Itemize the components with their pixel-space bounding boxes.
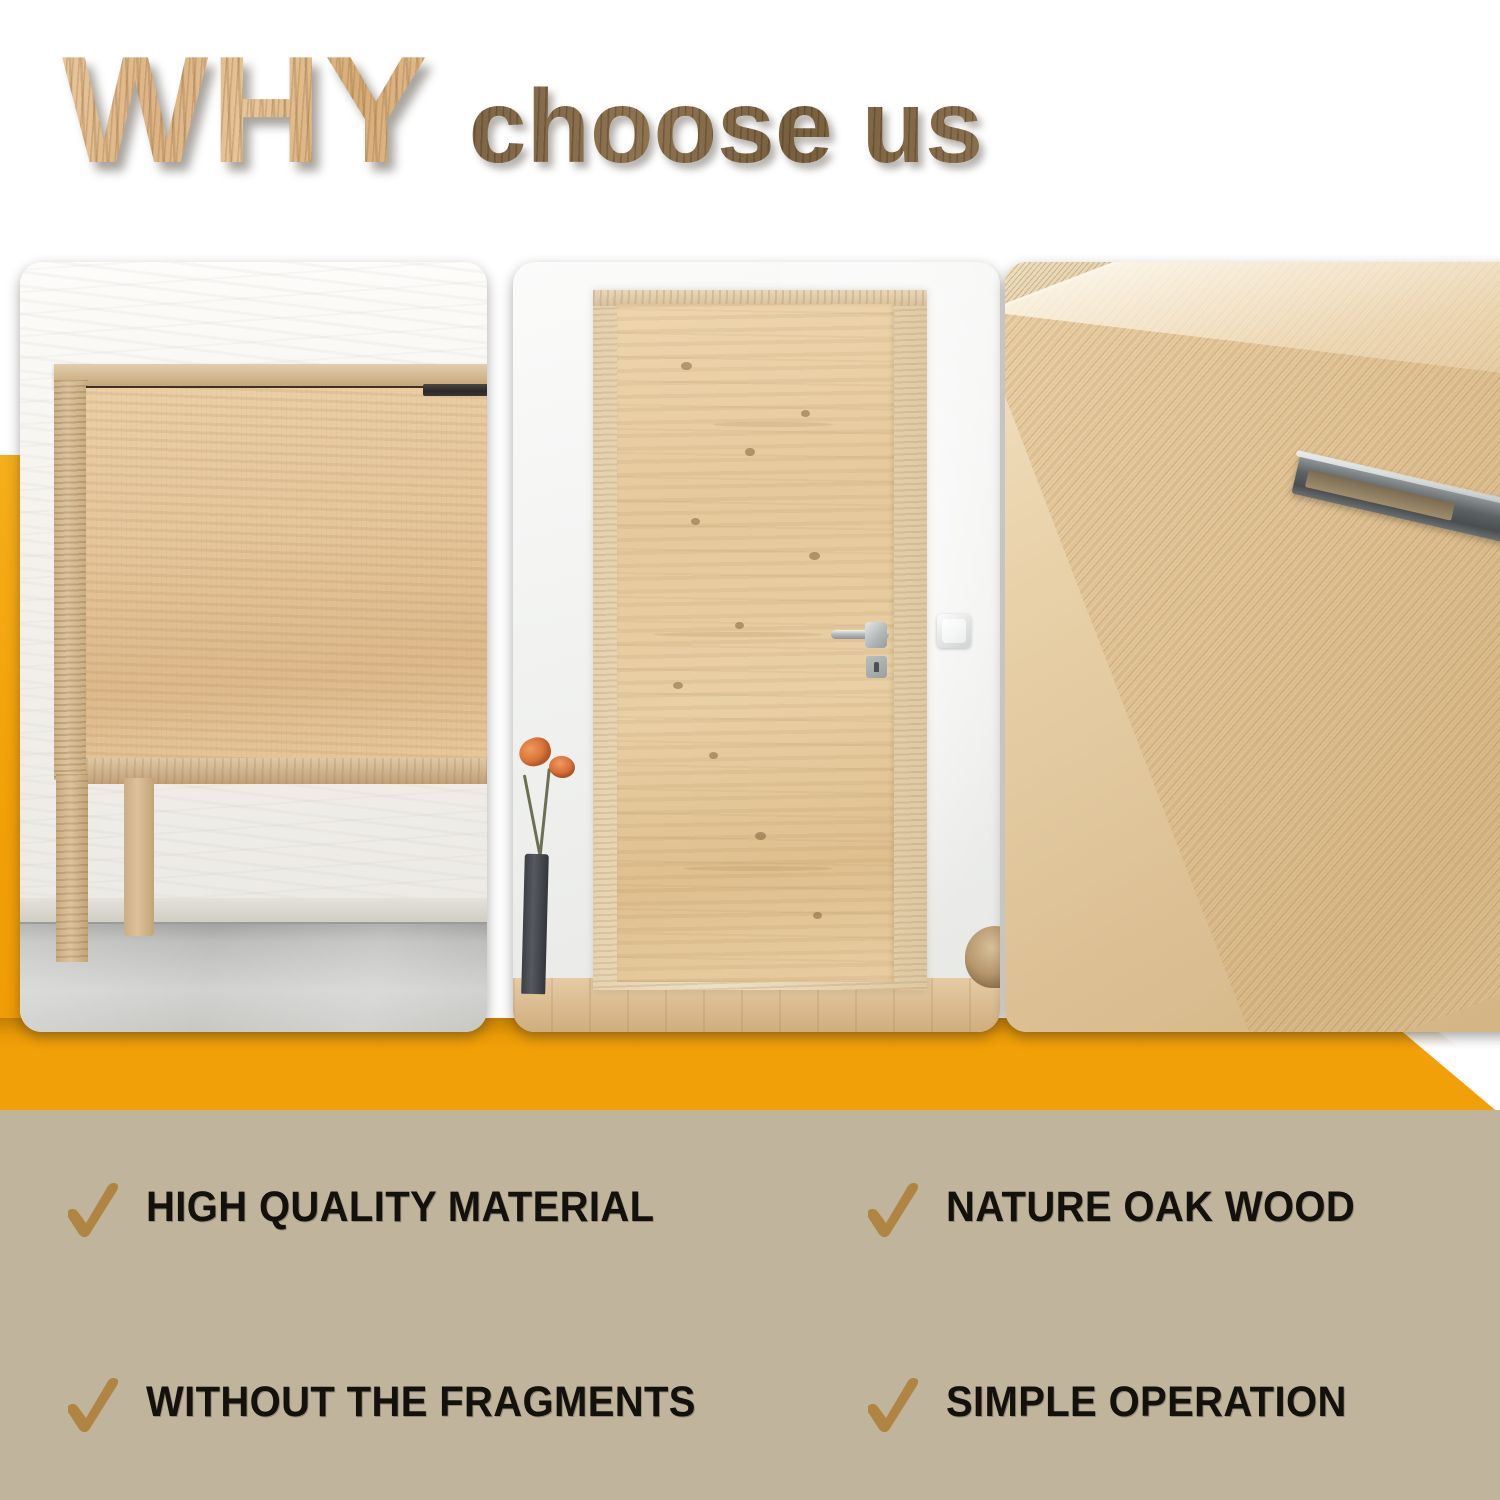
floor-vase xyxy=(521,854,549,995)
oak-door-leaf xyxy=(617,304,894,982)
cabinet-door-front xyxy=(86,388,487,758)
check-icon xyxy=(62,1372,124,1434)
feature-list-section: HIGH QUALITY MATERIAL NATURE OAK WOOD WI… xyxy=(0,1110,1500,1500)
wood-knot xyxy=(745,448,755,456)
oak-edge-banding-closeup-photo xyxy=(1005,262,1500,1032)
oak-door-photo xyxy=(513,262,1000,1032)
cabinet-bar-handle xyxy=(423,384,487,396)
why-choose-us-infographic: WHY choose us xyxy=(0,0,1500,1500)
photo-gallery xyxy=(0,0,1500,1050)
wood-grain-streak xyxy=(683,866,833,871)
feature-item-high-quality-material: HIGH QUALITY MATERIAL xyxy=(0,1177,810,1239)
door-handle-rose xyxy=(865,622,887,648)
cabinet-left-post xyxy=(54,380,88,780)
light-switch-rocker xyxy=(942,619,966,643)
wall-skirting xyxy=(20,898,487,924)
check-icon xyxy=(62,1177,124,1239)
wood-knot xyxy=(755,832,766,840)
feature-label: WITHOUT THE FRAGMENTS xyxy=(146,1378,696,1427)
feature-label: HIGH QUALITY MATERIAL xyxy=(146,1183,654,1232)
wood-knot xyxy=(813,912,822,919)
feature-item-without-the-fragments: WITHOUT THE FRAGMENTS xyxy=(0,1372,810,1434)
check-icon xyxy=(862,1372,924,1434)
feature-label: SIMPLE OPERATION xyxy=(946,1378,1347,1427)
feature-item-nature-oak-wood: NATURE OAK WOOD xyxy=(810,1177,1500,1239)
wood-knot xyxy=(709,752,718,759)
check-icon xyxy=(862,1177,924,1239)
feature-grid: HIGH QUALITY MATERIAL NATURE OAK WOOD WI… xyxy=(0,1110,1500,1500)
door-keyhole-slot xyxy=(874,662,879,672)
wood-grain-streak xyxy=(713,422,833,427)
wood-knot xyxy=(809,552,820,560)
floor-reflection xyxy=(20,924,487,1032)
wood-knot xyxy=(735,622,744,629)
wood-grain-streak xyxy=(653,632,823,637)
wood-knot xyxy=(801,410,810,417)
feature-item-simple-operation: SIMPLE OPERATION xyxy=(810,1372,1500,1434)
wood-knot xyxy=(691,518,700,525)
oak-sideboard-photo xyxy=(20,262,487,1032)
wood-knot xyxy=(673,682,683,689)
cabinet-middle-leg xyxy=(124,778,154,936)
cabinet-top-panel xyxy=(54,364,487,388)
wood-knot xyxy=(681,362,692,370)
feature-label: NATURE OAK WOOD xyxy=(946,1183,1355,1232)
cabinet-left-leg xyxy=(56,774,88,962)
